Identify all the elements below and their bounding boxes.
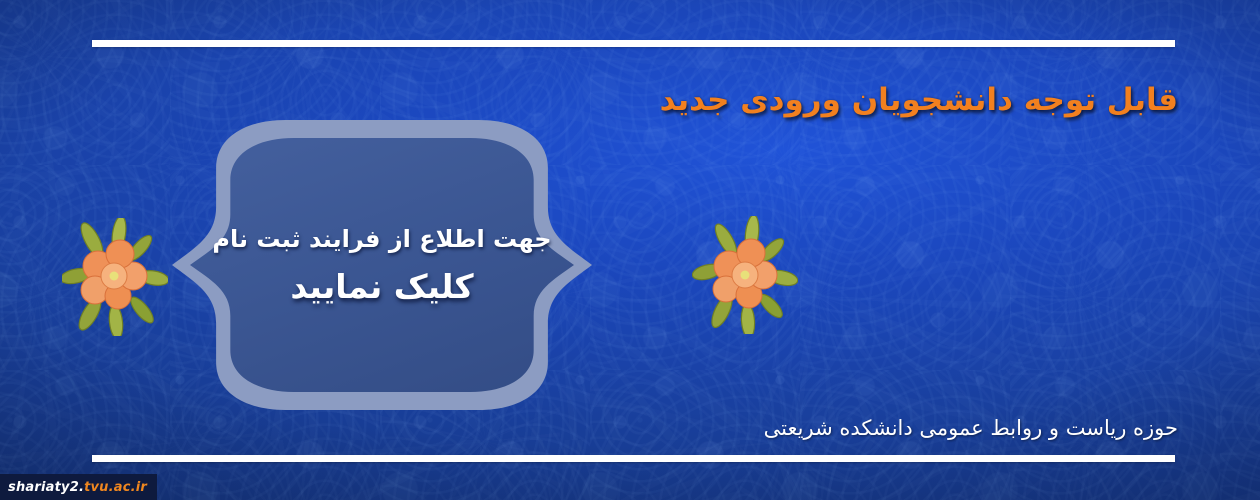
- cta-action-label[interactable]: کلیک نمایید: [290, 267, 473, 306]
- divider-rule-top: [92, 40, 1175, 47]
- cta-panel[interactable]: جهت اطلاع از فرایند ثبت نام کلیک نمایید: [172, 120, 592, 410]
- page-title: قابل توجه دانشجویان ورودی جدید: [660, 82, 1178, 118]
- divider-rule-bottom: [92, 455, 1175, 462]
- flower-ornament-right-icon: [692, 216, 798, 334]
- cta-subtitle: جهت اطلاع از فرایند ثبت نام: [212, 225, 551, 253]
- promotional-banner: قابل توجه دانشجویان ورودی جدید: [0, 0, 1260, 500]
- flower-ornament-left-icon: [62, 218, 168, 336]
- organization-credit: حوزه ریاست و روابط عمومی دانشکده شریعتی: [764, 416, 1178, 440]
- site-url-primary: shariaty2.: [8, 480, 84, 495]
- site-url-badge[interactable]: shariaty2. tvu.ac.ir: [0, 474, 157, 500]
- cta-panel-text: جهت اطلاع از فرایند ثبت نام کلیک نمایید: [172, 120, 592, 410]
- site-url-suffix: tvu.ac.ir: [84, 480, 147, 495]
